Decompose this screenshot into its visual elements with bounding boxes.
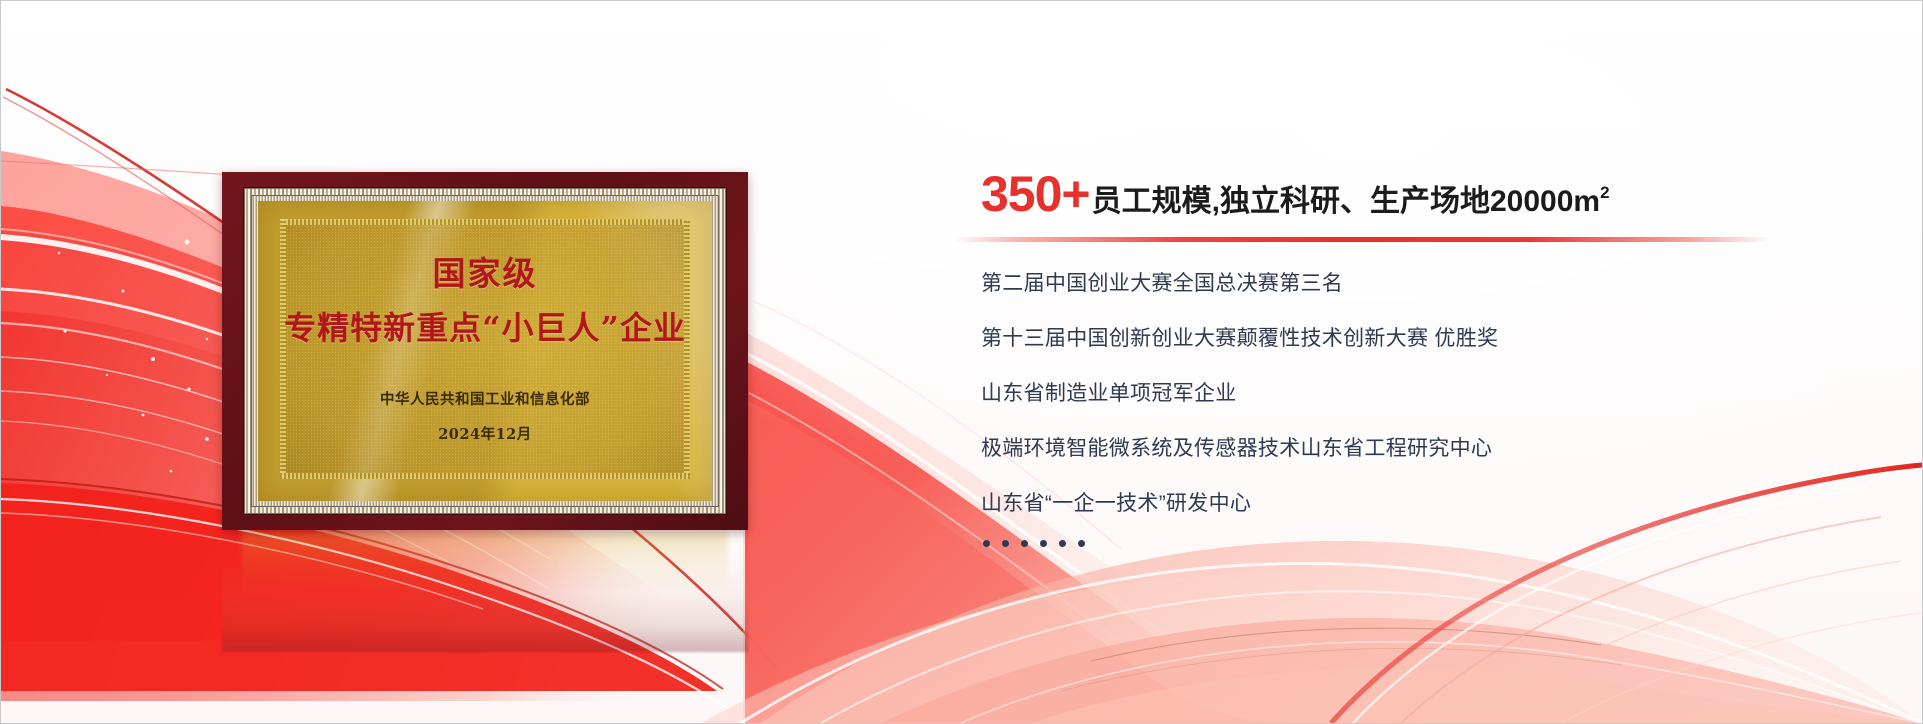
ellipsis-dot — [983, 540, 990, 547]
headline-superscript: 2 — [1600, 184, 1609, 201]
ellipsis-dot — [1059, 540, 1066, 547]
right-content-panel: 350+ 员工规模,独立科研、生产场地20000m 2 第二届中国创业大赛全国总… — [981, 169, 1841, 219]
award-plaque: 国家级 专精特新重点“小巨人”企业 中华人民共和国工业和信息化部 2024年12… — [222, 172, 748, 530]
award-list-ellipsis-dots — [981, 540, 1841, 547]
award-list-item: 第二届中国创业大赛全国总决赛第三名 — [981, 273, 1841, 294]
headline-number: 350+ — [981, 169, 1090, 219]
headline: 350+ 员工规模,独立科研、生产场地20000m 2 — [981, 169, 1841, 219]
plaque-title-line1: 国家级 — [433, 257, 538, 290]
plaque-text-block: 国家级 专精特新重点“小巨人”企业 中华人民共和国工业和信息化部 2024年12… — [258, 201, 712, 501]
plaque-gold-face: 国家级 专精特新重点“小巨人”企业 中华人民共和国工业和信息化部 2024年12… — [258, 201, 712, 501]
headline-divider-rule — [953, 237, 1771, 242]
plaque-date: 2024年12月 — [438, 423, 532, 444]
headline-text: 员工规模,独立科研、生产场地20000m — [1092, 187, 1600, 217]
plaque-reflection — [222, 532, 748, 652]
plaque-title-line2: 专精特新重点“小巨人”企业 — [284, 312, 686, 344]
banner-canvas: 国家级 专精特新重点“小巨人”企业 中华人民共和国工业和信息化部 2024年12… — [0, 0, 1923, 724]
award-list-item: 山东省“一企一技术”研发中心 — [981, 493, 1841, 514]
award-list-item: 山东省制造业单项冠军企业 — [981, 383, 1841, 404]
ellipsis-dot — [1021, 540, 1028, 547]
ellipsis-dot — [1078, 540, 1085, 547]
award-list-item: 极端环境智能微系统及传感器技术山东省工程研究中心 — [981, 438, 1841, 459]
plaque-issuer: 中华人民共和国工业和信息化部 — [380, 388, 590, 409]
ellipsis-dot — [1040, 540, 1047, 547]
award-list: 第二届中国创业大赛全国总决赛第三名 第十三届中国创新创业大赛颠覆性技术创新大赛 … — [981, 273, 1841, 547]
ellipsis-dot — [1002, 540, 1009, 547]
award-list-item: 第十三届中国创新创业大赛颠覆性技术创新大赛 优胜奖 — [981, 328, 1841, 349]
